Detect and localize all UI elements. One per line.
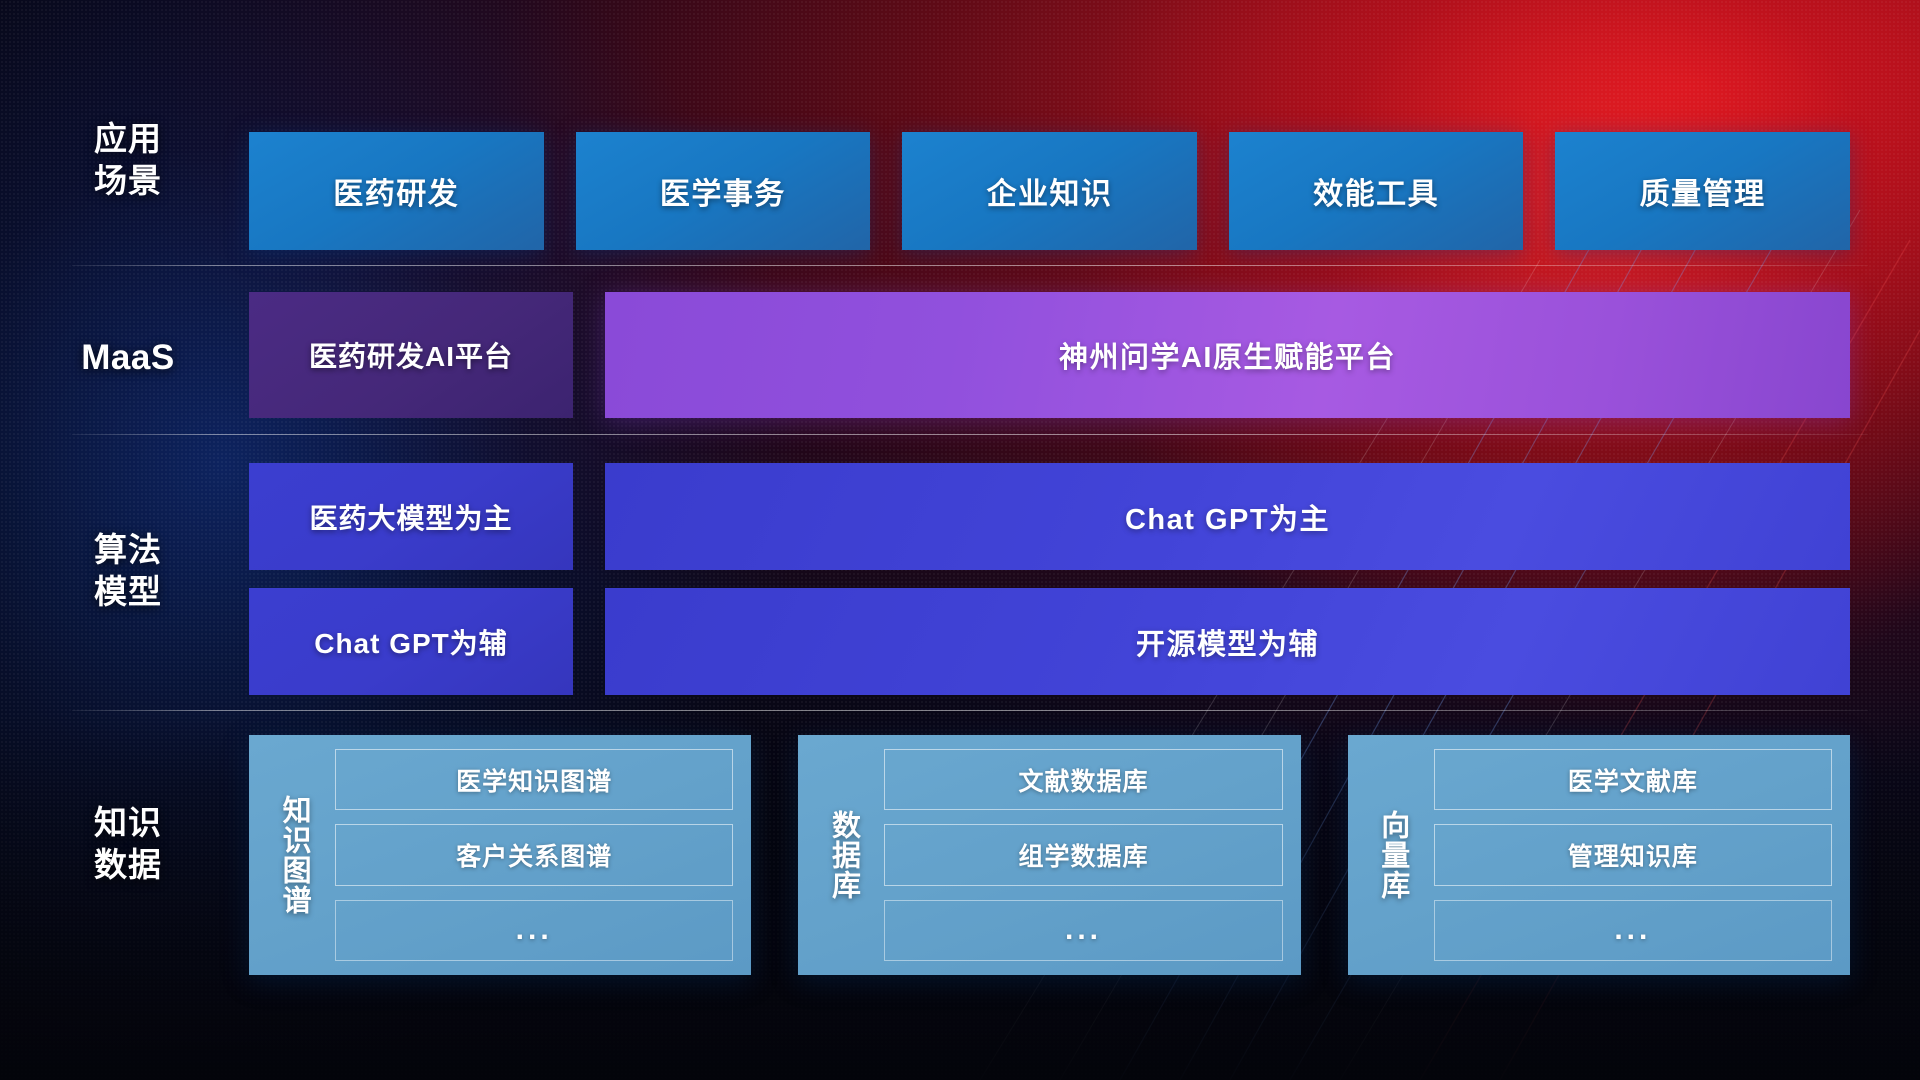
knowledge-item-more[interactable]: ... bbox=[884, 900, 1282, 961]
knowledge-panel-items: 医学文献库 管理知识库 ... bbox=[1424, 749, 1832, 961]
algorithm-row-primary: 医药大模型为主 Chat GPT为主 bbox=[249, 463, 1850, 570]
tier-label-line2: 模型 bbox=[48, 571, 208, 613]
app-card-quality-management[interactable]: 质量管理 bbox=[1555, 132, 1850, 250]
knowledge-item-omics-database[interactable]: 组学数据库 bbox=[884, 824, 1282, 885]
app-card-enterprise-knowledge[interactable]: 企业知识 bbox=[902, 132, 1197, 250]
divider-after-application-scenarios bbox=[72, 265, 1868, 266]
tier-label-line1: 知识 bbox=[48, 802, 208, 844]
knowledge-panel-knowledge-graph: 知识图谱 医学知识图谱 客户关系图谱 ... bbox=[249, 735, 751, 975]
tier-label-maas: MaaS bbox=[48, 336, 208, 381]
knowledge-item-medical-literature-store[interactable]: 医学文献库 bbox=[1434, 749, 1832, 810]
algo-card-chatgpt-secondary[interactable]: Chat GPT为辅 bbox=[249, 588, 573, 695]
algo-card-chatgpt-primary[interactable]: Chat GPT为主 bbox=[605, 463, 1850, 570]
knowledge-item-more[interactable]: ... bbox=[335, 900, 733, 961]
app-card-medical-affairs[interactable]: 医学事务 bbox=[576, 132, 871, 250]
knowledge-item-more[interactable]: ... bbox=[1434, 900, 1832, 961]
tier-label-line1: 算法 bbox=[48, 529, 208, 571]
knowledge-panel-items: 文献数据库 组学数据库 ... bbox=[874, 749, 1282, 961]
knowledge-panel-title: 知识图谱 bbox=[263, 749, 325, 961]
tier-label-line1: 应用 bbox=[48, 118, 208, 160]
app-card-efficiency-tools[interactable]: 效能工具 bbox=[1229, 132, 1524, 250]
application-scenarios-row: 医药研发 医学事务 企业知识 效能工具 质量管理 bbox=[249, 132, 1850, 250]
knowledge-panel-items: 医学知识图谱 客户关系图谱 ... bbox=[325, 749, 733, 961]
knowledge-panel-title: 向量库 bbox=[1362, 749, 1424, 961]
tier-label-algorithm-models: 算法 模型 bbox=[48, 529, 208, 613]
algo-card-medicine-llm-primary[interactable]: 医药大模型为主 bbox=[249, 463, 573, 570]
knowledge-panel-title: 数据库 bbox=[812, 749, 874, 961]
app-card-medicine-rd[interactable]: 医药研发 bbox=[249, 132, 544, 250]
tier-label-application-scenarios: 应用 场景 bbox=[48, 118, 208, 202]
knowledge-panel-database: 数据库 文献数据库 组学数据库 ... bbox=[798, 735, 1300, 975]
tier-label-line2: 数据 bbox=[48, 844, 208, 886]
divider-after-maas bbox=[72, 434, 1868, 435]
knowledge-data-row: 知识图谱 医学知识图谱 客户关系图谱 ... 数据库 文献数据库 组学数据库 .… bbox=[249, 735, 1850, 975]
knowledge-item-management-knowledge-store[interactable]: 管理知识库 bbox=[1434, 824, 1832, 885]
maas-card-shenzhou-wenxue-platform[interactable]: 神州问学AI原生赋能平台 bbox=[605, 292, 1850, 418]
knowledge-item-customer-relation-graph[interactable]: 客户关系图谱 bbox=[335, 824, 733, 885]
algorithm-row-secondary: Chat GPT为辅 开源模型为辅 bbox=[249, 588, 1850, 695]
knowledge-panel-vector-store: 向量库 医学文献库 管理知识库 ... bbox=[1348, 735, 1850, 975]
tier-label-line2: 场景 bbox=[48, 160, 208, 202]
knowledge-item-literature-database[interactable]: 文献数据库 bbox=[884, 749, 1282, 810]
knowledge-item-medical-knowledge-graph[interactable]: 医学知识图谱 bbox=[335, 749, 733, 810]
architecture-diagram: 应用 场景 医药研发 医学事务 企业知识 效能工具 质量管理 MaaS 医药研发… bbox=[0, 0, 1920, 1080]
maas-card-medicine-ai-platform[interactable]: 医药研发AI平台 bbox=[249, 292, 573, 418]
algorithm-models-row: 医药大模型为主 Chat GPT为主 Chat GPT为辅 开源模型为辅 bbox=[249, 463, 1850, 695]
maas-row: 医药研发AI平台 神州问学AI原生赋能平台 bbox=[249, 292, 1850, 418]
tier-label-knowledge-data: 知识 数据 bbox=[48, 802, 208, 886]
divider-after-algorithm-models bbox=[72, 710, 1868, 711]
algo-card-opensource-secondary[interactable]: 开源模型为辅 bbox=[605, 588, 1850, 695]
